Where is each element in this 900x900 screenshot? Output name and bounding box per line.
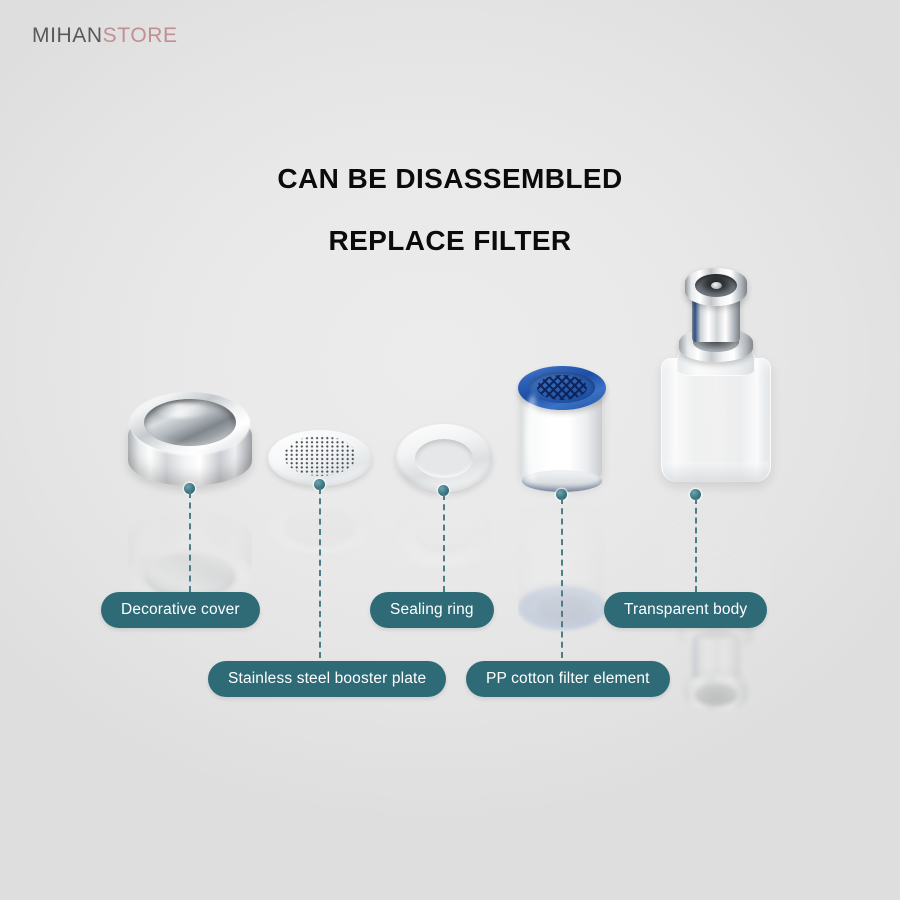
label-sealing-ring[interactable]: Sealing ring [370, 592, 494, 628]
label-decorative-cover[interactable]: Decorative cover [101, 592, 260, 628]
infographic-canvas: MIHANSTORE CAN BE DISASSEMBLED REPLACE F… [0, 0, 900, 900]
label-transparent-body[interactable]: Transparent body [604, 592, 767, 628]
leader-line-sealing-ring [443, 494, 445, 592]
filter-grid-mesh [537, 375, 587, 400]
brand-name-primary: MIHAN [32, 24, 103, 47]
ring-aperture [415, 439, 473, 478]
label-stainless-steel-booster-plate[interactable]: Stainless steel booster plate [208, 661, 446, 697]
brand-name-secondary: STORE [103, 24, 178, 47]
leader-line-decorative-cover [189, 492, 191, 592]
housing-base-rib [663, 462, 769, 482]
headline-secondary: REPLACE FILTER [0, 225, 900, 257]
head-pin [711, 282, 722, 289]
leader-line-pp-cotton-filter [561, 498, 563, 658]
plate-perforations [284, 436, 356, 476]
brand-logo: MIHANSTORE [32, 24, 178, 48]
part-pp-cotton-filter [518, 360, 606, 502]
leader-line-transparent-body [695, 498, 697, 592]
label-pp-cotton-filter-element[interactable]: PP cotton filter element [466, 661, 670, 697]
headline-primary: CAN BE DISASSEMBLED [0, 163, 900, 195]
part-transparent-body [655, 262, 777, 494]
cap-highlight [154, 403, 210, 418]
filter-highlight [526, 394, 540, 482]
leader-line-booster-plate [319, 488, 321, 658]
